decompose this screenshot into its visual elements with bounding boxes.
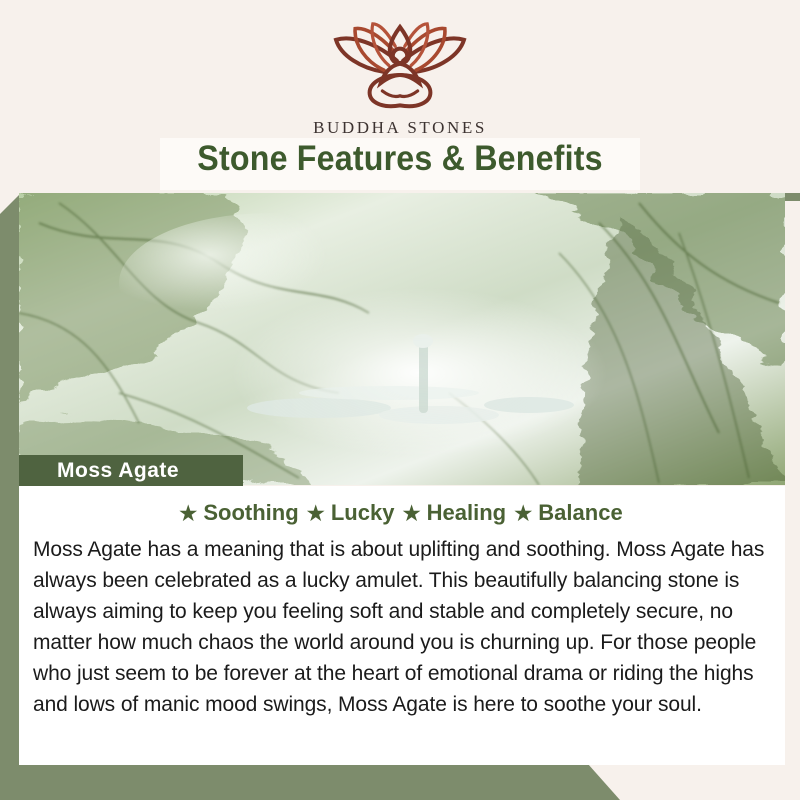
star-icon: ★ — [179, 503, 197, 525]
star-icon: ★ — [403, 503, 421, 525]
stone-texture — [19, 193, 785, 485]
brand-name: BUDDHA STONES — [313, 118, 487, 138]
header: BUDDHA STONES Stone Features & Benefits — [0, 0, 800, 193]
star-icon: ★ — [307, 503, 325, 525]
lotus-meditation-icon — [320, 18, 480, 116]
star-icon: ★ — [514, 503, 532, 525]
keyword-lucky: Lucky — [331, 500, 395, 525]
moss-agate-photo — [19, 193, 785, 485]
page-title: Stone Features & Benefits — [32, 139, 768, 179]
keyword-balance: Balance — [538, 500, 622, 525]
keyword-healing: Healing — [427, 500, 506, 525]
stone-name-label: Moss Agate — [19, 459, 179, 483]
stone-description: Moss Agate has a meaning that is about u… — [33, 534, 773, 720]
keyword-list: ★ Soothing ★ Lucky ★ Healing ★ Balance — [19, 486, 785, 526]
frame-accent-bottom — [0, 764, 620, 800]
content-card: ★ Soothing ★ Lucky ★ Healing ★ Balance M… — [19, 486, 785, 765]
brand-logo: BUDDHA STONES — [0, 18, 800, 138]
keyword-soothing: Soothing — [203, 500, 298, 525]
stone-name-band: Moss Agate — [19, 455, 243, 486]
